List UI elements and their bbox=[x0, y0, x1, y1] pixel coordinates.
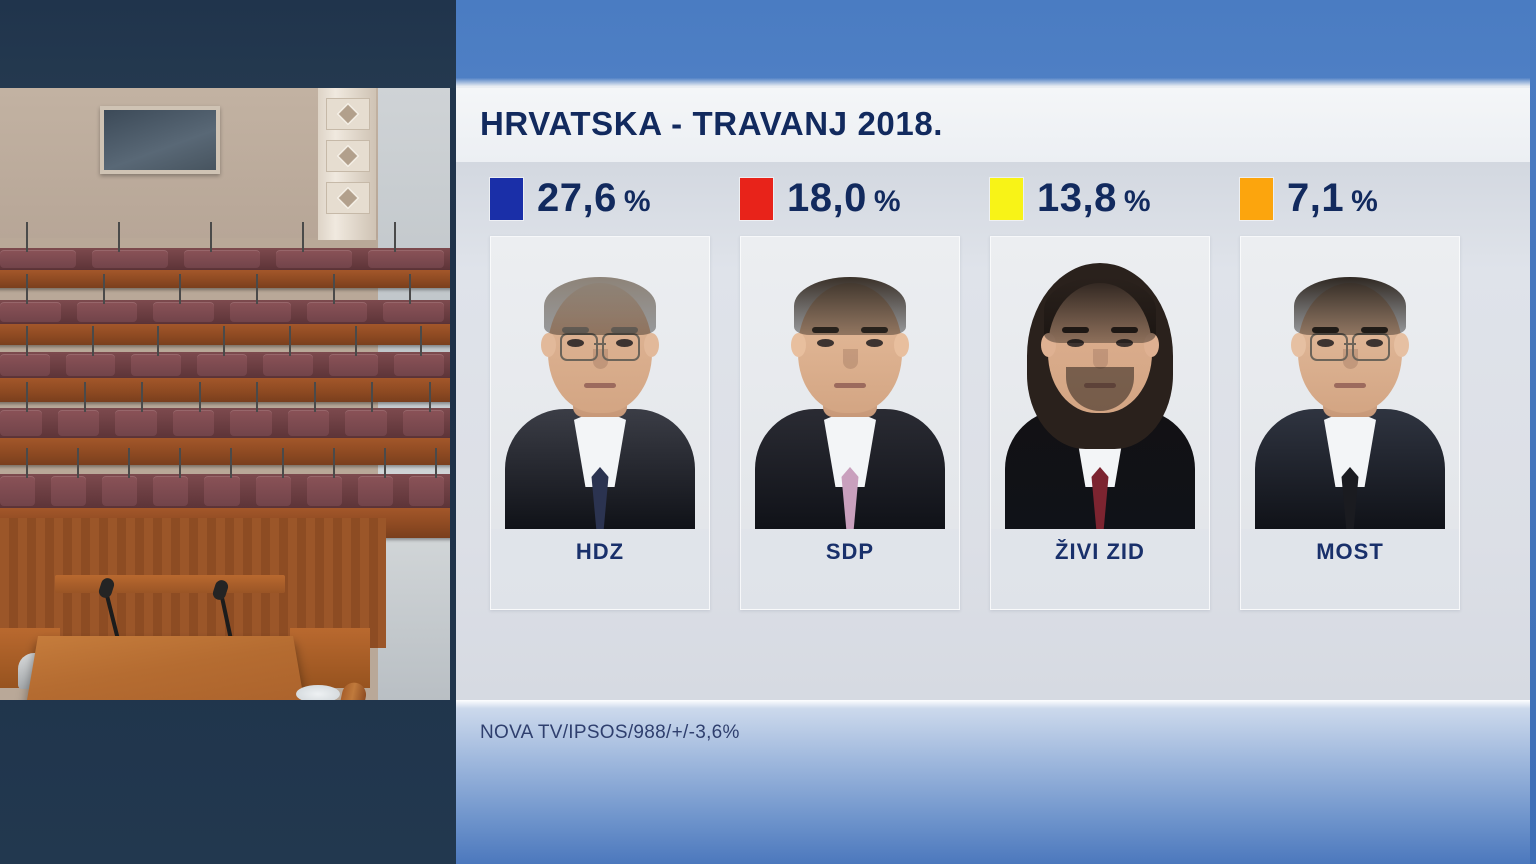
pillar-ornament bbox=[326, 182, 370, 214]
bench-microphone bbox=[179, 448, 181, 478]
percentage-number: 18,0 bbox=[787, 176, 867, 221]
color-swatch-icon bbox=[990, 178, 1023, 220]
speaker-desk-back bbox=[55, 575, 285, 593]
bench-seat bbox=[276, 250, 352, 268]
percent-symbol: % bbox=[624, 185, 651, 219]
bench-microphone bbox=[409, 274, 411, 304]
stat-hdz: 27,6% bbox=[490, 176, 651, 221]
percentage-number: 13,8 bbox=[1037, 176, 1117, 221]
party-card-row: HDZSDPŽIVI ZIDMOST bbox=[456, 236, 1530, 616]
bench-microphone bbox=[118, 222, 120, 252]
politician-portrait bbox=[1241, 237, 1459, 529]
bench-seat bbox=[230, 410, 272, 436]
bench-microphone bbox=[314, 382, 316, 412]
broadcast-graphic: HRVATSKA - TRAVANJ 2018. 27,6%18,0%13,8%… bbox=[0, 0, 1536, 864]
party-card[interactable]: ŽIVI ZID bbox=[990, 236, 1210, 610]
politician-portrait bbox=[491, 237, 709, 529]
bench-seat bbox=[358, 476, 393, 506]
party-card[interactable]: MOST bbox=[1240, 236, 1460, 610]
ear bbox=[791, 333, 806, 357]
eyeglasses-bridge bbox=[1344, 343, 1356, 345]
party-name-label: HDZ bbox=[491, 529, 709, 575]
bench-seat bbox=[92, 250, 168, 268]
bench-seat bbox=[263, 354, 313, 376]
bench-seat-row bbox=[0, 474, 450, 508]
wall-display-panel bbox=[100, 106, 220, 174]
page-title: HRVATSKA - TRAVANJ 2018. bbox=[480, 105, 943, 143]
percentage-row: 27,6%18,0%13,8%7,1% bbox=[456, 162, 1530, 236]
percentage-value: 13,8% bbox=[1037, 176, 1151, 221]
party-name-label: MOST bbox=[1241, 529, 1459, 575]
bench-seat bbox=[230, 302, 291, 322]
bench-microphone bbox=[429, 382, 431, 412]
bench-microphone bbox=[256, 274, 258, 304]
bench-microphone bbox=[26, 382, 28, 412]
bench-seat bbox=[0, 354, 50, 376]
stat-sdp: 18,0% bbox=[740, 176, 901, 221]
poll-results-panel: HRVATSKA - TRAVANJ 2018. 27,6%18,0%13,8%… bbox=[456, 88, 1530, 700]
bench-microphone bbox=[333, 448, 335, 478]
bench-seat bbox=[0, 476, 35, 506]
eyeglasses bbox=[1310, 333, 1348, 361]
party-name-label: SDP bbox=[741, 529, 959, 575]
ear bbox=[894, 333, 909, 357]
hair bbox=[1294, 277, 1406, 335]
bench-seat bbox=[184, 250, 260, 268]
panel-right-edge bbox=[1530, 0, 1536, 864]
beard bbox=[1066, 367, 1134, 411]
bench-seat bbox=[153, 476, 188, 506]
decorative-pillar bbox=[318, 88, 376, 240]
party-card[interactable]: SDP bbox=[740, 236, 960, 610]
ear bbox=[541, 333, 556, 357]
bench-microphone bbox=[435, 448, 437, 478]
bench-seat bbox=[131, 354, 181, 376]
bench-seat bbox=[0, 302, 61, 322]
bench-seat bbox=[173, 410, 215, 436]
bench-microphone bbox=[223, 326, 225, 356]
bench-seat bbox=[204, 476, 239, 506]
title-band: HRVATSKA - TRAVANJ 2018. bbox=[456, 88, 1530, 162]
bench-microphone bbox=[26, 326, 28, 356]
bench-seat bbox=[153, 302, 214, 322]
hair bbox=[794, 277, 906, 335]
pillar-ornament bbox=[326, 98, 370, 130]
nose bbox=[1093, 349, 1108, 369]
color-swatch-icon bbox=[1240, 178, 1273, 220]
bench-microphone bbox=[199, 382, 201, 412]
bench-seat bbox=[288, 410, 330, 436]
bench-seat bbox=[307, 302, 368, 322]
bench-seat bbox=[383, 302, 444, 322]
bench-seat-row bbox=[0, 248, 450, 270]
eyeglasses bbox=[560, 333, 598, 361]
speaker-desk-surface bbox=[21, 636, 309, 700]
bench-microphone bbox=[355, 326, 357, 356]
hair bbox=[544, 277, 656, 335]
bench-microphone bbox=[141, 382, 143, 412]
percent-symbol: % bbox=[1124, 185, 1151, 219]
bench-microphone bbox=[26, 448, 28, 478]
bench-microphone bbox=[302, 222, 304, 252]
bench-seat bbox=[403, 410, 445, 436]
bench-seat bbox=[115, 410, 157, 436]
eyeglasses-bridge bbox=[594, 343, 606, 345]
percentage-value: 7,1% bbox=[1287, 176, 1378, 221]
bench-seat bbox=[58, 410, 100, 436]
hair bbox=[1044, 277, 1156, 343]
bench-microphone bbox=[26, 274, 28, 304]
percentage-value: 27,6% bbox=[537, 176, 651, 221]
bench-microphone bbox=[92, 326, 94, 356]
bench-seat-row bbox=[0, 300, 450, 324]
bench-seat bbox=[66, 354, 116, 376]
bench-microphone bbox=[84, 382, 86, 412]
source-note: NOVA TV/IPSOS/988/+/-3,6% bbox=[480, 722, 740, 744]
eyeglasses bbox=[1352, 333, 1390, 361]
bench-seat bbox=[409, 476, 444, 506]
bench-microphone bbox=[26, 222, 28, 252]
party-name-label: ŽIVI ZID bbox=[991, 529, 1209, 575]
bench-seat bbox=[0, 410, 42, 436]
bench-microphone bbox=[384, 448, 386, 478]
bench-microphone bbox=[289, 326, 291, 356]
nose bbox=[843, 349, 858, 369]
percentage-value: 18,0% bbox=[787, 176, 901, 221]
bench-microphone bbox=[230, 448, 232, 478]
bench-desk bbox=[0, 270, 450, 288]
percent-symbol: % bbox=[1351, 185, 1378, 219]
bench-seat bbox=[77, 302, 138, 322]
bench-desk bbox=[0, 438, 450, 465]
eye bbox=[817, 339, 834, 347]
bench-seat bbox=[307, 476, 342, 506]
bench-microphone bbox=[420, 326, 422, 356]
pillar-ornament bbox=[326, 140, 370, 172]
bench-seat bbox=[102, 476, 137, 506]
bench-microphone bbox=[282, 448, 284, 478]
ear bbox=[1291, 333, 1306, 357]
ear bbox=[1394, 333, 1409, 357]
stat-živi-zid: 13,8% bbox=[990, 176, 1151, 221]
bench-microphone bbox=[157, 326, 159, 356]
politician-portrait bbox=[991, 237, 1209, 529]
bench-seat-row bbox=[0, 408, 450, 438]
bench-microphone bbox=[210, 222, 212, 252]
bench-seat bbox=[394, 354, 444, 376]
mouth bbox=[584, 383, 616, 388]
bench-microphone bbox=[77, 448, 79, 478]
ear bbox=[644, 333, 659, 357]
color-swatch-icon bbox=[490, 178, 523, 220]
bench-microphone bbox=[256, 382, 258, 412]
bench-microphone bbox=[103, 274, 105, 304]
bench-seat bbox=[256, 476, 291, 506]
results-body: 27,6%18,0%13,8%7,1% HDZSDPŽIVI ZIDMOST N… bbox=[456, 162, 1530, 700]
bench-seat bbox=[197, 354, 247, 376]
desk-plate bbox=[296, 685, 340, 700]
percentage-number: 7,1 bbox=[1287, 176, 1344, 221]
bench-seat bbox=[0, 250, 76, 268]
politician-portrait bbox=[741, 237, 959, 529]
bench-microphone bbox=[333, 274, 335, 304]
bench-microphone bbox=[394, 222, 396, 252]
mouth bbox=[1334, 383, 1366, 388]
bench-desk bbox=[0, 378, 450, 402]
desk-wing-right bbox=[290, 628, 370, 688]
parliament-chamber-photo bbox=[0, 88, 450, 700]
mouth bbox=[834, 383, 866, 388]
eyeglasses bbox=[602, 333, 640, 361]
percentage-number: 27,6 bbox=[537, 176, 617, 221]
bench-microphone bbox=[179, 274, 181, 304]
bench-seat bbox=[51, 476, 86, 506]
eye bbox=[866, 339, 883, 347]
percent-symbol: % bbox=[874, 185, 901, 219]
background-top-left-band bbox=[0, 0, 456, 88]
bench-microphone bbox=[128, 448, 130, 478]
bench-microphone bbox=[371, 382, 373, 412]
stat-most: 7,1% bbox=[1240, 176, 1378, 221]
bench-seat bbox=[329, 354, 379, 376]
bench-seat bbox=[368, 250, 444, 268]
bench-seat bbox=[345, 410, 387, 436]
color-swatch-icon bbox=[740, 178, 773, 220]
party-card[interactable]: HDZ bbox=[490, 236, 710, 610]
